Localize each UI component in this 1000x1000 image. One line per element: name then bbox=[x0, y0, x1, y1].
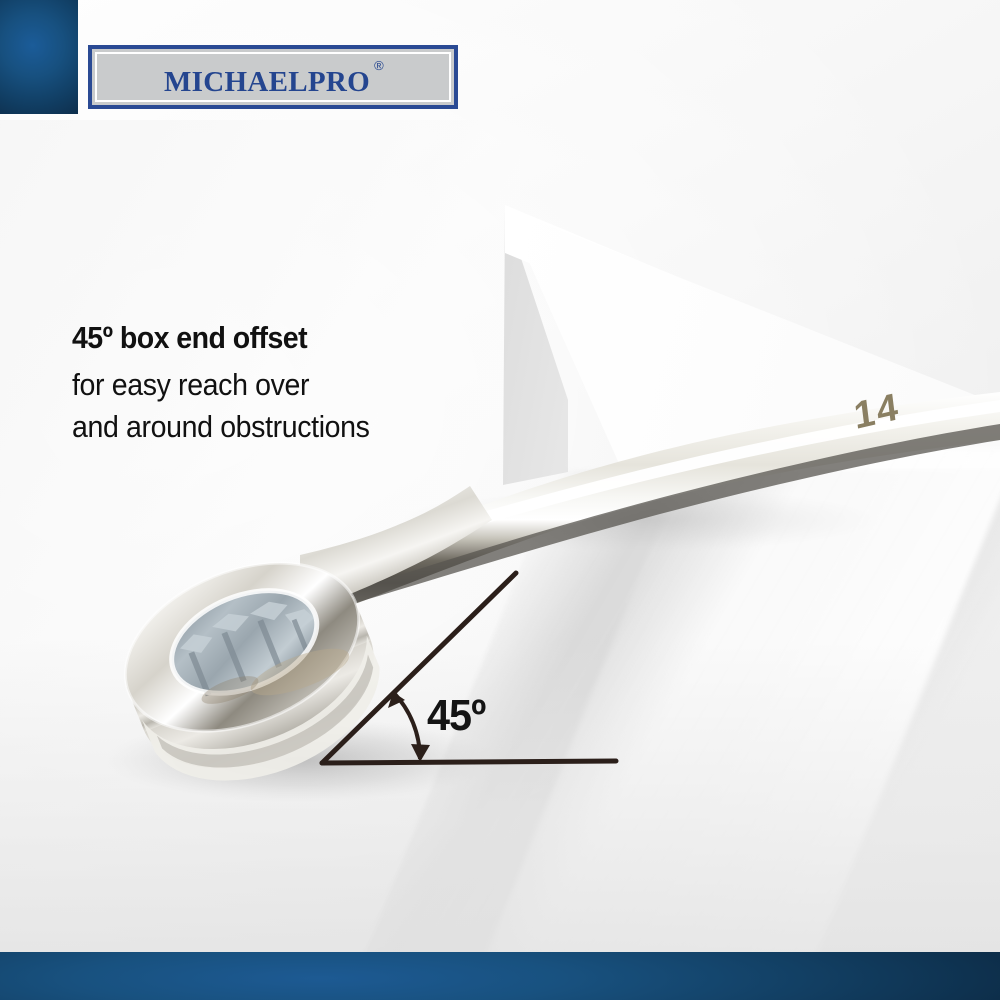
arc-arrow-head-bottom bbox=[411, 744, 430, 762]
wrench-illustration bbox=[0, 0, 1000, 1000]
brand-logo-inner-frame: MichaelPro ® bbox=[95, 52, 451, 102]
feature-subline-1: for easy reach over bbox=[72, 367, 458, 404]
brand-logo: MichaelPro ® bbox=[88, 45, 458, 109]
angle-annotation bbox=[300, 550, 660, 790]
feature-headline: 45º box end offset bbox=[72, 320, 458, 357]
baseline-reference-line bbox=[322, 761, 616, 763]
product-feature-image: 14 45º 45º box end offset for easy reach… bbox=[0, 0, 1000, 1000]
feature-copy-block: 45º box end offset for easy reach over a… bbox=[72, 320, 492, 452]
registered-trademark-icon: ® bbox=[374, 59, 384, 72]
blue-corner-accent bbox=[0, 0, 78, 114]
angle-value-label: 45º bbox=[427, 694, 485, 738]
brand-logo-wordmark: MichaelPro bbox=[164, 54, 370, 100]
wrench-size-marking: 14 bbox=[852, 388, 902, 436]
brand-logo-text: MichaelPro ® bbox=[164, 57, 382, 98]
blue-footer-bar bbox=[0, 952, 1000, 1000]
feature-subline-2: and around obstructions bbox=[72, 409, 458, 446]
offset-angle-line bbox=[322, 573, 516, 763]
